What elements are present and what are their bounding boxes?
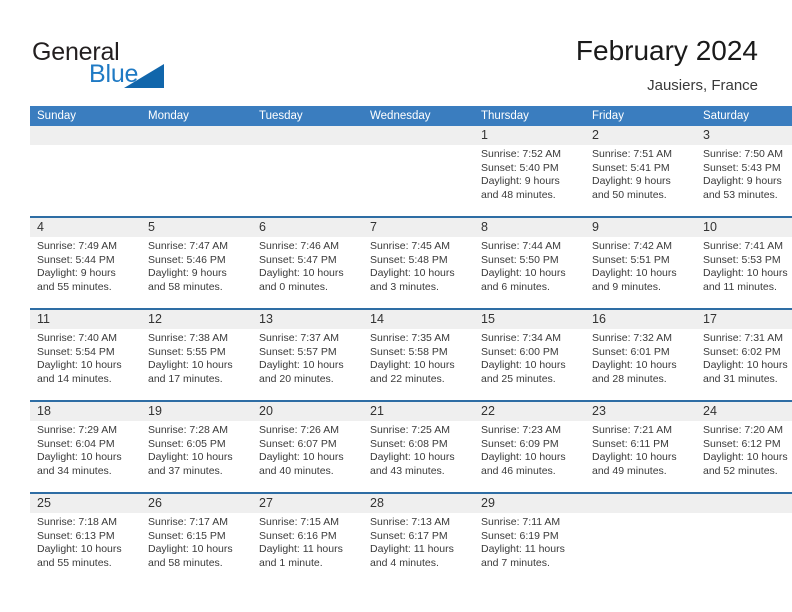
brand-name-blue: Blue (89, 60, 138, 89)
week-row: 25Sunrise: 7:18 AMSunset: 6:13 PMDayligh… (30, 493, 792, 584)
daylight-text-line2: and 11 minutes. (703, 281, 792, 295)
weekday-header-wednesday: Wednesday (363, 106, 474, 126)
day-info: Sunrise: 7:17 AMSunset: 6:15 PMDaylight:… (141, 513, 252, 570)
day-number: 1 (474, 126, 585, 145)
day-cell[interactable]: 3Sunrise: 7:50 AMSunset: 5:43 PMDaylight… (696, 126, 792, 217)
daylight-text-line1: Daylight: 11 hours (370, 543, 468, 557)
sunrise-text: Sunrise: 7:44 AM (481, 240, 579, 254)
day-number: 5 (141, 218, 252, 237)
day-number (30, 126, 141, 145)
location-subtitle: Jausiers, France (576, 76, 758, 96)
day-cell[interactable]: 18Sunrise: 7:29 AMSunset: 6:04 PMDayligh… (30, 401, 141, 493)
day-number: 3 (696, 126, 792, 145)
sunset-text: Sunset: 5:40 PM (481, 162, 579, 176)
day-number: 29 (474, 494, 585, 513)
day-cell[interactable]: 4Sunrise: 7:49 AMSunset: 5:44 PMDaylight… (30, 217, 141, 309)
day-number: 21 (363, 402, 474, 421)
day-number (363, 126, 474, 145)
daylight-text-line1: Daylight: 9 hours (592, 175, 690, 189)
sunset-text: Sunset: 6:15 PM (148, 530, 246, 544)
day-number (696, 494, 792, 513)
sunset-text: Sunset: 6:04 PM (37, 438, 135, 452)
day-info: Sunrise: 7:47 AMSunset: 5:46 PMDaylight:… (141, 237, 252, 294)
daylight-text-line1: Daylight: 10 hours (592, 451, 690, 465)
daylight-text-line1: Daylight: 9 hours (703, 175, 792, 189)
daylight-text-line1: Daylight: 9 hours (37, 267, 135, 281)
day-info: Sunrise: 7:11 AMSunset: 6:19 PMDaylight:… (474, 513, 585, 570)
daylight-text-line2: and 58 minutes. (148, 557, 246, 571)
sunrise-text: Sunrise: 7:45 AM (370, 240, 468, 254)
sunset-text: Sunset: 5:53 PM (703, 254, 792, 268)
day-cell[interactable]: 23Sunrise: 7:21 AMSunset: 6:11 PMDayligh… (585, 401, 696, 493)
day-cell-empty (585, 493, 696, 584)
sunrise-text: Sunrise: 7:35 AM (370, 332, 468, 346)
day-info: Sunrise: 7:34 AMSunset: 6:00 PMDaylight:… (474, 329, 585, 386)
daylight-text-line1: Daylight: 10 hours (703, 359, 792, 373)
day-number: 6 (252, 218, 363, 237)
daylight-text-line2: and 52 minutes. (703, 465, 792, 479)
daylight-text-line2: and 49 minutes. (592, 465, 690, 479)
daylight-text-line1: Daylight: 10 hours (148, 451, 246, 465)
daylight-text-line2: and 55 minutes. (37, 281, 135, 295)
daylight-text-line2: and 55 minutes. (37, 557, 135, 571)
day-cell[interactable]: 9Sunrise: 7:42 AMSunset: 5:51 PMDaylight… (585, 217, 696, 309)
day-cell[interactable]: 7Sunrise: 7:45 AMSunset: 5:48 PMDaylight… (363, 217, 474, 309)
sunset-text: Sunset: 5:46 PM (148, 254, 246, 268)
daylight-text-line2: and 43 minutes. (370, 465, 468, 479)
sunrise-text: Sunrise: 7:15 AM (259, 516, 357, 530)
daylight-text-line2: and 22 minutes. (370, 373, 468, 387)
weekday-header-sunday: Sunday (30, 106, 141, 126)
daylight-text-line1: Daylight: 10 hours (37, 543, 135, 557)
day-number (585, 494, 696, 513)
daylight-text-line2: and 3 minutes. (370, 281, 468, 295)
sunrise-text: Sunrise: 7:29 AM (37, 424, 135, 438)
sunrise-text: Sunrise: 7:11 AM (481, 516, 579, 530)
calendar-table: Sunday Monday Tuesday Wednesday Thursday… (30, 106, 792, 584)
day-number: 7 (363, 218, 474, 237)
day-cell[interactable]: 13Sunrise: 7:37 AMSunset: 5:57 PMDayligh… (252, 309, 363, 401)
weekday-header-monday: Monday (141, 106, 252, 126)
day-number: 19 (141, 402, 252, 421)
daylight-text-line1: Daylight: 10 hours (703, 267, 792, 281)
day-cell[interactable]: 17Sunrise: 7:31 AMSunset: 6:02 PMDayligh… (696, 309, 792, 401)
daylight-text-line2: and 0 minutes. (259, 281, 357, 295)
day-cell[interactable]: 6Sunrise: 7:46 AMSunset: 5:47 PMDaylight… (252, 217, 363, 309)
day-number: 22 (474, 402, 585, 421)
day-info: Sunrise: 7:15 AMSunset: 6:16 PMDaylight:… (252, 513, 363, 570)
page-title: February 2024 (576, 34, 758, 68)
day-number (252, 126, 363, 145)
day-info: Sunrise: 7:51 AMSunset: 5:41 PMDaylight:… (585, 145, 696, 202)
daylight-text-line2: and 40 minutes. (259, 465, 357, 479)
sunrise-text: Sunrise: 7:23 AM (481, 424, 579, 438)
day-info: Sunrise: 7:37 AMSunset: 5:57 PMDaylight:… (252, 329, 363, 386)
day-cell[interactable]: 12Sunrise: 7:38 AMSunset: 5:55 PMDayligh… (141, 309, 252, 401)
day-cell-empty (252, 126, 363, 217)
day-number: 25 (30, 494, 141, 513)
daylight-text-line2: and 34 minutes. (37, 465, 135, 479)
day-number: 23 (585, 402, 696, 421)
sunset-text: Sunset: 6:13 PM (37, 530, 135, 544)
day-info: Sunrise: 7:13 AMSunset: 6:17 PMDaylight:… (363, 513, 474, 570)
daylight-text-line2: and 4 minutes. (370, 557, 468, 571)
day-info: Sunrise: 7:35 AMSunset: 5:58 PMDaylight:… (363, 329, 474, 386)
sunrise-text: Sunrise: 7:47 AM (148, 240, 246, 254)
day-cell[interactable]: 26Sunrise: 7:17 AMSunset: 6:15 PMDayligh… (141, 493, 252, 584)
weekday-header-saturday: Saturday (696, 106, 792, 126)
day-info: Sunrise: 7:40 AMSunset: 5:54 PMDaylight:… (30, 329, 141, 386)
day-cell[interactable]: 16Sunrise: 7:32 AMSunset: 6:01 PMDayligh… (585, 309, 696, 401)
day-cell[interactable]: 19Sunrise: 7:28 AMSunset: 6:05 PMDayligh… (141, 401, 252, 493)
day-number: 15 (474, 310, 585, 329)
day-info: Sunrise: 7:32 AMSunset: 6:01 PMDaylight:… (585, 329, 696, 386)
day-cell[interactable]: 20Sunrise: 7:26 AMSunset: 6:07 PMDayligh… (252, 401, 363, 493)
day-info: Sunrise: 7:31 AMSunset: 6:02 PMDaylight:… (696, 329, 792, 386)
daylight-text-line1: Daylight: 10 hours (148, 543, 246, 557)
day-info: Sunrise: 7:49 AMSunset: 5:44 PMDaylight:… (30, 237, 141, 294)
sunset-text: Sunset: 5:44 PM (37, 254, 135, 268)
day-cell-empty (30, 126, 141, 217)
sunset-text: Sunset: 5:58 PM (370, 346, 468, 360)
sunset-text: Sunset: 6:07 PM (259, 438, 357, 452)
day-cell[interactable]: 24Sunrise: 7:20 AMSunset: 6:12 PMDayligh… (696, 401, 792, 493)
sunrise-text: Sunrise: 7:52 AM (481, 148, 579, 162)
day-info: Sunrise: 7:25 AMSunset: 6:08 PMDaylight:… (363, 421, 474, 478)
weekday-header-tuesday: Tuesday (252, 106, 363, 126)
daylight-text-line1: Daylight: 10 hours (370, 359, 468, 373)
daylight-text-line1: Daylight: 10 hours (370, 267, 468, 281)
daylight-text-line1: Daylight: 9 hours (148, 267, 246, 281)
day-cell-empty (141, 126, 252, 217)
sunset-text: Sunset: 6:05 PM (148, 438, 246, 452)
sunset-text: Sunset: 6:16 PM (259, 530, 357, 544)
day-cell-empty (696, 493, 792, 584)
sunset-text: Sunset: 6:01 PM (592, 346, 690, 360)
daylight-text-line1: Daylight: 9 hours (481, 175, 579, 189)
day-cell[interactable]: 25Sunrise: 7:18 AMSunset: 6:13 PMDayligh… (30, 493, 141, 584)
day-number: 12 (141, 310, 252, 329)
sunrise-text: Sunrise: 7:17 AM (148, 516, 246, 530)
day-number: 16 (585, 310, 696, 329)
day-cell[interactable]: 1Sunrise: 7:52 AMSunset: 5:40 PMDaylight… (474, 126, 585, 217)
weekday-header-friday: Friday (585, 106, 696, 126)
sunrise-text: Sunrise: 7:20 AM (703, 424, 792, 438)
daylight-text-line1: Daylight: 11 hours (481, 543, 579, 557)
day-cell[interactable]: 14Sunrise: 7:35 AMSunset: 5:58 PMDayligh… (363, 309, 474, 401)
daylight-text-line2: and 48 minutes. (481, 189, 579, 203)
day-number: 13 (252, 310, 363, 329)
day-number: 20 (252, 402, 363, 421)
weekday-header-thursday: Thursday (474, 106, 585, 126)
day-number (141, 126, 252, 145)
sunset-text: Sunset: 6:09 PM (481, 438, 579, 452)
sunset-text: Sunset: 5:48 PM (370, 254, 468, 268)
daylight-text-line2: and 17 minutes. (148, 373, 246, 387)
day-info: Sunrise: 7:42 AMSunset: 5:51 PMDaylight:… (585, 237, 696, 294)
sunset-text: Sunset: 5:54 PM (37, 346, 135, 360)
title-block: February 2024 Jausiers, France (576, 34, 758, 96)
sunrise-text: Sunrise: 7:49 AM (37, 240, 135, 254)
sunset-text: Sunset: 5:47 PM (259, 254, 357, 268)
day-info: Sunrise: 7:29 AMSunset: 6:04 PMDaylight:… (30, 421, 141, 478)
sunset-text: Sunset: 6:02 PM (703, 346, 792, 360)
daylight-text-line2: and 20 minutes. (259, 373, 357, 387)
day-number: 24 (696, 402, 792, 421)
calendar-body: 1Sunrise: 7:52 AMSunset: 5:40 PMDaylight… (30, 126, 792, 584)
sunrise-text: Sunrise: 7:42 AM (592, 240, 690, 254)
day-info: Sunrise: 7:38 AMSunset: 5:55 PMDaylight:… (141, 329, 252, 386)
day-info: Sunrise: 7:50 AMSunset: 5:43 PMDaylight:… (696, 145, 792, 202)
sunrise-text: Sunrise: 7:37 AM (259, 332, 357, 346)
day-cell[interactable]: 5Sunrise: 7:47 AMSunset: 5:46 PMDaylight… (141, 217, 252, 309)
daylight-text-line1: Daylight: 10 hours (703, 451, 792, 465)
day-info: Sunrise: 7:28 AMSunset: 6:05 PMDaylight:… (141, 421, 252, 478)
daylight-text-line2: and 53 minutes. (703, 189, 792, 203)
day-number: 10 (696, 218, 792, 237)
daylight-text-line2: and 14 minutes. (37, 373, 135, 387)
daylight-text-line2: and 50 minutes. (592, 189, 690, 203)
sunrise-text: Sunrise: 7:32 AM (592, 332, 690, 346)
day-cell[interactable]: 27Sunrise: 7:15 AMSunset: 6:16 PMDayligh… (252, 493, 363, 584)
day-info: Sunrise: 7:46 AMSunset: 5:47 PMDaylight:… (252, 237, 363, 294)
day-info: Sunrise: 7:41 AMSunset: 5:53 PMDaylight:… (696, 237, 792, 294)
day-cell-empty (363, 126, 474, 217)
sunset-text: Sunset: 6:12 PM (703, 438, 792, 452)
day-number: 17 (696, 310, 792, 329)
day-cell[interactable]: 2Sunrise: 7:51 AMSunset: 5:41 PMDaylight… (585, 126, 696, 217)
daylight-text-line2: and 1 minute. (259, 557, 357, 571)
sunset-text: Sunset: 5:43 PM (703, 162, 792, 176)
sunset-text: Sunset: 5:57 PM (259, 346, 357, 360)
day-number: 8 (474, 218, 585, 237)
day-info: Sunrise: 7:18 AMSunset: 6:13 PMDaylight:… (30, 513, 141, 570)
daylight-text-line1: Daylight: 10 hours (259, 451, 357, 465)
day-number: 18 (30, 402, 141, 421)
daylight-text-line1: Daylight: 10 hours (259, 267, 357, 281)
daylight-text-line1: Daylight: 10 hours (37, 359, 135, 373)
sunset-text: Sunset: 6:11 PM (592, 438, 690, 452)
sunrise-text: Sunrise: 7:50 AM (703, 148, 792, 162)
sunrise-text: Sunrise: 7:13 AM (370, 516, 468, 530)
sunrise-text: Sunrise: 7:34 AM (481, 332, 579, 346)
weekday-header-row: Sunday Monday Tuesday Wednesday Thursday… (30, 106, 792, 126)
sunrise-text: Sunrise: 7:38 AM (148, 332, 246, 346)
daylight-text-line2: and 37 minutes. (148, 465, 246, 479)
daylight-text-line2: and 58 minutes. (148, 281, 246, 295)
sunset-text: Sunset: 5:55 PM (148, 346, 246, 360)
daylight-text-line2: and 9 minutes. (592, 281, 690, 295)
sunset-text: Sunset: 5:41 PM (592, 162, 690, 176)
sunset-text: Sunset: 6:00 PM (481, 346, 579, 360)
day-info: Sunrise: 7:45 AMSunset: 5:48 PMDaylight:… (363, 237, 474, 294)
sunset-text: Sunset: 5:51 PM (592, 254, 690, 268)
day-number: 4 (30, 218, 141, 237)
day-info: Sunrise: 7:21 AMSunset: 6:11 PMDaylight:… (585, 421, 696, 478)
week-row: 11Sunrise: 7:40 AMSunset: 5:54 PMDayligh… (30, 309, 792, 401)
day-number: 26 (141, 494, 252, 513)
brand-logo[interactable]: General Blue (32, 38, 192, 90)
week-row: 1Sunrise: 7:52 AMSunset: 5:40 PMDaylight… (30, 126, 792, 217)
daylight-text-line2: and 25 minutes. (481, 373, 579, 387)
day-cell[interactable]: 28Sunrise: 7:13 AMSunset: 6:17 PMDayligh… (363, 493, 474, 584)
week-row: 4Sunrise: 7:49 AMSunset: 5:44 PMDaylight… (30, 217, 792, 309)
sunset-text: Sunset: 6:08 PM (370, 438, 468, 452)
daylight-text-line1: Daylight: 10 hours (148, 359, 246, 373)
week-row: 18Sunrise: 7:29 AMSunset: 6:04 PMDayligh… (30, 401, 792, 493)
daylight-text-line1: Daylight: 10 hours (481, 451, 579, 465)
day-number: 2 (585, 126, 696, 145)
day-info: Sunrise: 7:23 AMSunset: 6:09 PMDaylight:… (474, 421, 585, 478)
day-cell[interactable]: 22Sunrise: 7:23 AMSunset: 6:09 PMDayligh… (474, 401, 585, 493)
daylight-text-line1: Daylight: 10 hours (370, 451, 468, 465)
day-cell[interactable]: 29Sunrise: 7:11 AMSunset: 6:19 PMDayligh… (474, 493, 585, 584)
sunrise-text: Sunrise: 7:51 AM (592, 148, 690, 162)
day-number: 14 (363, 310, 474, 329)
day-info: Sunrise: 7:44 AMSunset: 5:50 PMDaylight:… (474, 237, 585, 294)
day-number: 11 (30, 310, 141, 329)
sunrise-text: Sunrise: 7:46 AM (259, 240, 357, 254)
day-number: 28 (363, 494, 474, 513)
daylight-text-line2: and 7 minutes. (481, 557, 579, 571)
sunset-text: Sunset: 5:50 PM (481, 254, 579, 268)
day-cell[interactable]: 8Sunrise: 7:44 AMSunset: 5:50 PMDaylight… (474, 217, 585, 309)
day-number: 27 (252, 494, 363, 513)
calendar-head: Sunday Monday Tuesday Wednesday Thursday… (30, 106, 792, 126)
sunrise-text: Sunrise: 7:40 AM (37, 332, 135, 346)
sunrise-text: Sunrise: 7:18 AM (37, 516, 135, 530)
day-cell[interactable]: 11Sunrise: 7:40 AMSunset: 5:54 PMDayligh… (30, 309, 141, 401)
sunset-text: Sunset: 6:17 PM (370, 530, 468, 544)
daylight-text-line2: and 31 minutes. (703, 373, 792, 387)
daylight-text-line1: Daylight: 11 hours (259, 543, 357, 557)
day-info: Sunrise: 7:26 AMSunset: 6:07 PMDaylight:… (252, 421, 363, 478)
sunrise-text: Sunrise: 7:28 AM (148, 424, 246, 438)
sunrise-text: Sunrise: 7:41 AM (703, 240, 792, 254)
day-number: 9 (585, 218, 696, 237)
daylight-text-line1: Daylight: 10 hours (481, 359, 579, 373)
daylight-text-line2: and 28 minutes. (592, 373, 690, 387)
page-header: General Blue February 2024 Jausiers, Fra… (0, 0, 792, 100)
day-info: Sunrise: 7:20 AMSunset: 6:12 PMDaylight:… (696, 421, 792, 478)
day-cell[interactable]: 21Sunrise: 7:25 AMSunset: 6:08 PMDayligh… (363, 401, 474, 493)
sunrise-text: Sunrise: 7:31 AM (703, 332, 792, 346)
daylight-text-line1: Daylight: 10 hours (592, 359, 690, 373)
daylight-text-line2: and 46 minutes. (481, 465, 579, 479)
day-info: Sunrise: 7:52 AMSunset: 5:40 PMDaylight:… (474, 145, 585, 202)
sunset-text: Sunset: 6:19 PM (481, 530, 579, 544)
daylight-text-line1: Daylight: 10 hours (481, 267, 579, 281)
day-cell[interactable]: 15Sunrise: 7:34 AMSunset: 6:00 PMDayligh… (474, 309, 585, 401)
daylight-text-line1: Daylight: 10 hours (592, 267, 690, 281)
daylight-text-line1: Daylight: 10 hours (37, 451, 135, 465)
daylight-text-line1: Daylight: 10 hours (259, 359, 357, 373)
day-cell[interactable]: 10Sunrise: 7:41 AMSunset: 5:53 PMDayligh… (696, 217, 792, 309)
daylight-text-line2: and 6 minutes. (481, 281, 579, 295)
sunrise-text: Sunrise: 7:21 AM (592, 424, 690, 438)
sunrise-text: Sunrise: 7:25 AM (370, 424, 468, 438)
sunrise-text: Sunrise: 7:26 AM (259, 424, 357, 438)
